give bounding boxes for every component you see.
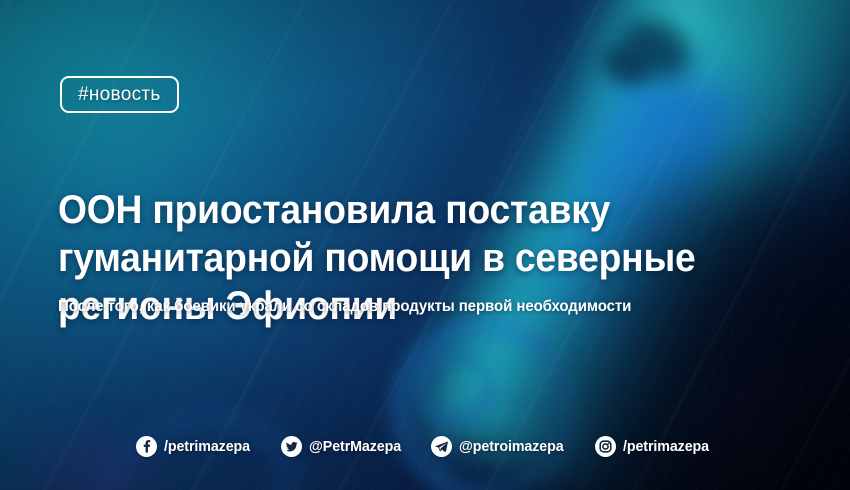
facebook-icon: [136, 436, 157, 457]
telegram-icon: [431, 436, 452, 457]
twitter-icon: [281, 436, 302, 457]
social-bar: /petrimazepa @PetrMazepa @petroimazepa: [0, 436, 850, 457]
social-link-twitter[interactable]: @PetrMazepa: [281, 436, 406, 457]
social-handle-twitter: @PetrMazepa: [309, 438, 401, 455]
subtitle: После того, как боевики украли со складо…: [58, 296, 735, 318]
social-handle-facebook: /petrimazepa: [164, 438, 250, 455]
instagram-icon: [595, 436, 616, 457]
news-card: #новость ООН приостановила поставку гума…: [0, 0, 850, 490]
hashtag-badge[interactable]: #новость: [60, 76, 179, 113]
card-content: #новость ООН приостановила поставку гума…: [0, 0, 850, 490]
social-link-instagram[interactable]: /petrimazepa: [595, 436, 714, 457]
social-handle-telegram: @petroimazepa: [459, 438, 564, 455]
social-link-telegram[interactable]: @petroimazepa: [431, 436, 569, 457]
social-handle-instagram: /petrimazepa: [623, 438, 709, 455]
social-link-facebook[interactable]: /petrimazepa: [136, 436, 255, 457]
